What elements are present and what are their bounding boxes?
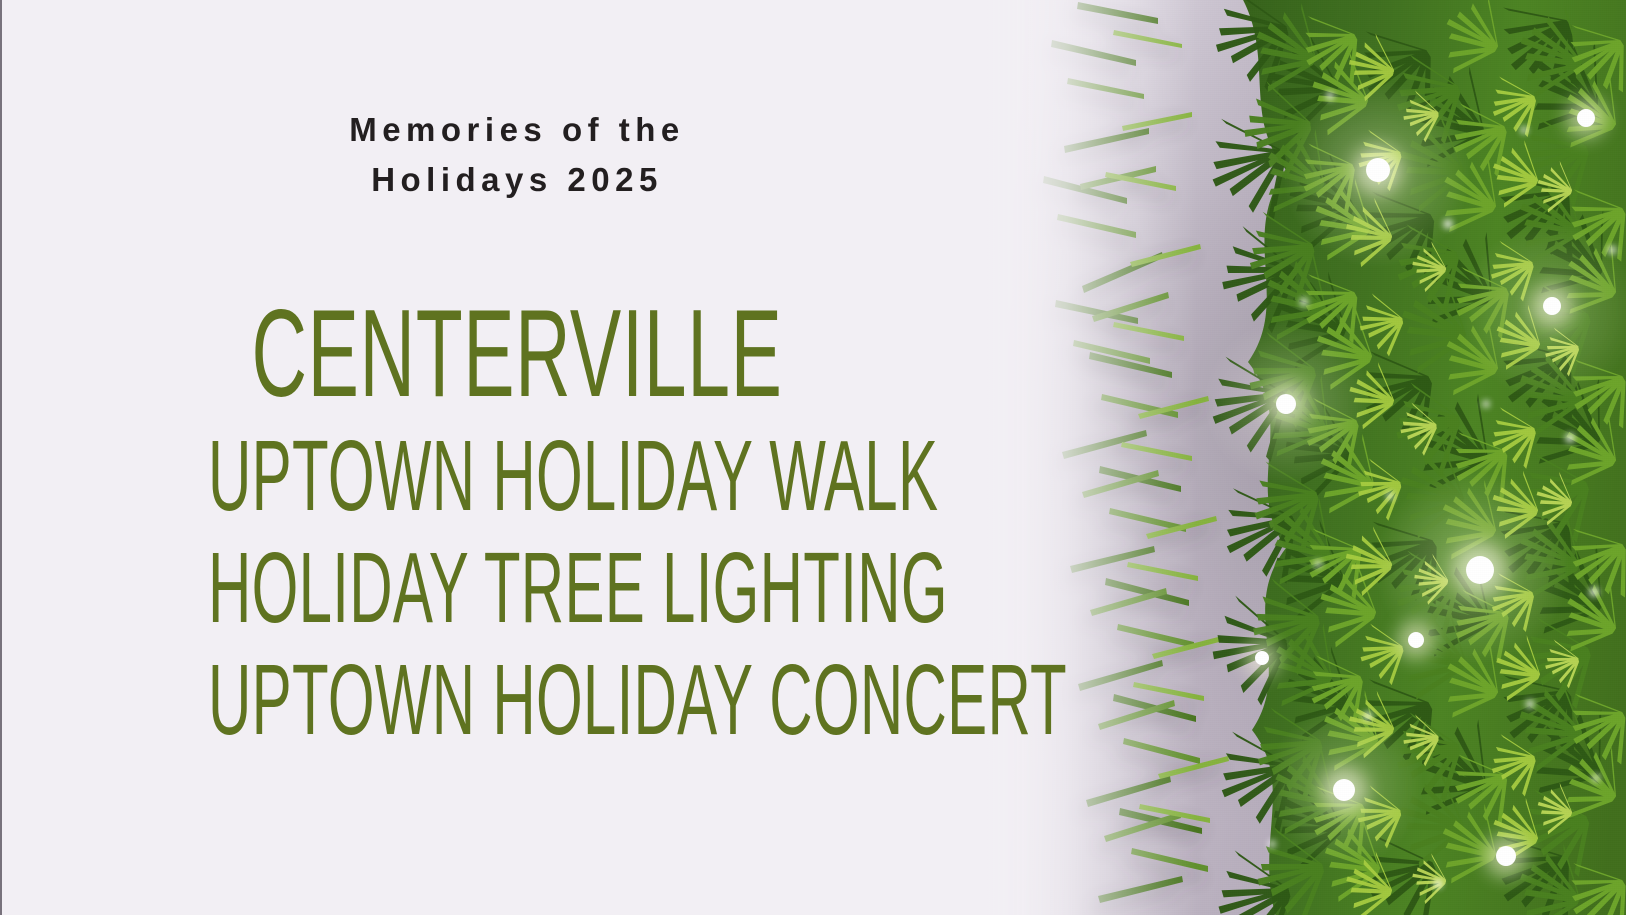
- poster-eyebrow-heading: Memories of the Holidays 2025: [2, 105, 1032, 205]
- headline-city: CENTERVILLE: [198, 296, 837, 412]
- poster-content-panel: Memories of the Holidays 2025 CENTERVILL…: [2, 0, 1032, 915]
- evergreen-photo-panel: [986, 0, 1626, 915]
- headline-uptown-holiday-walk: UPTOWN HOLIDAY WALK: [208, 420, 826, 532]
- headline-uptown-holiday-concert: UPTOWN HOLIDAY CONCERT: [208, 644, 826, 756]
- headline-stack: CENTERVILLE UPTOWN HOLIDAY WALK HOLIDAY …: [2, 296, 1032, 756]
- headline-holiday-tree-lighting: HOLIDAY TREE LIGHTING: [208, 532, 826, 644]
- holiday-event-poster: Memories of the Holidays 2025 CENTERVILL…: [0, 0, 1626, 915]
- evergreen-branches-illustration: [986, 0, 1626, 915]
